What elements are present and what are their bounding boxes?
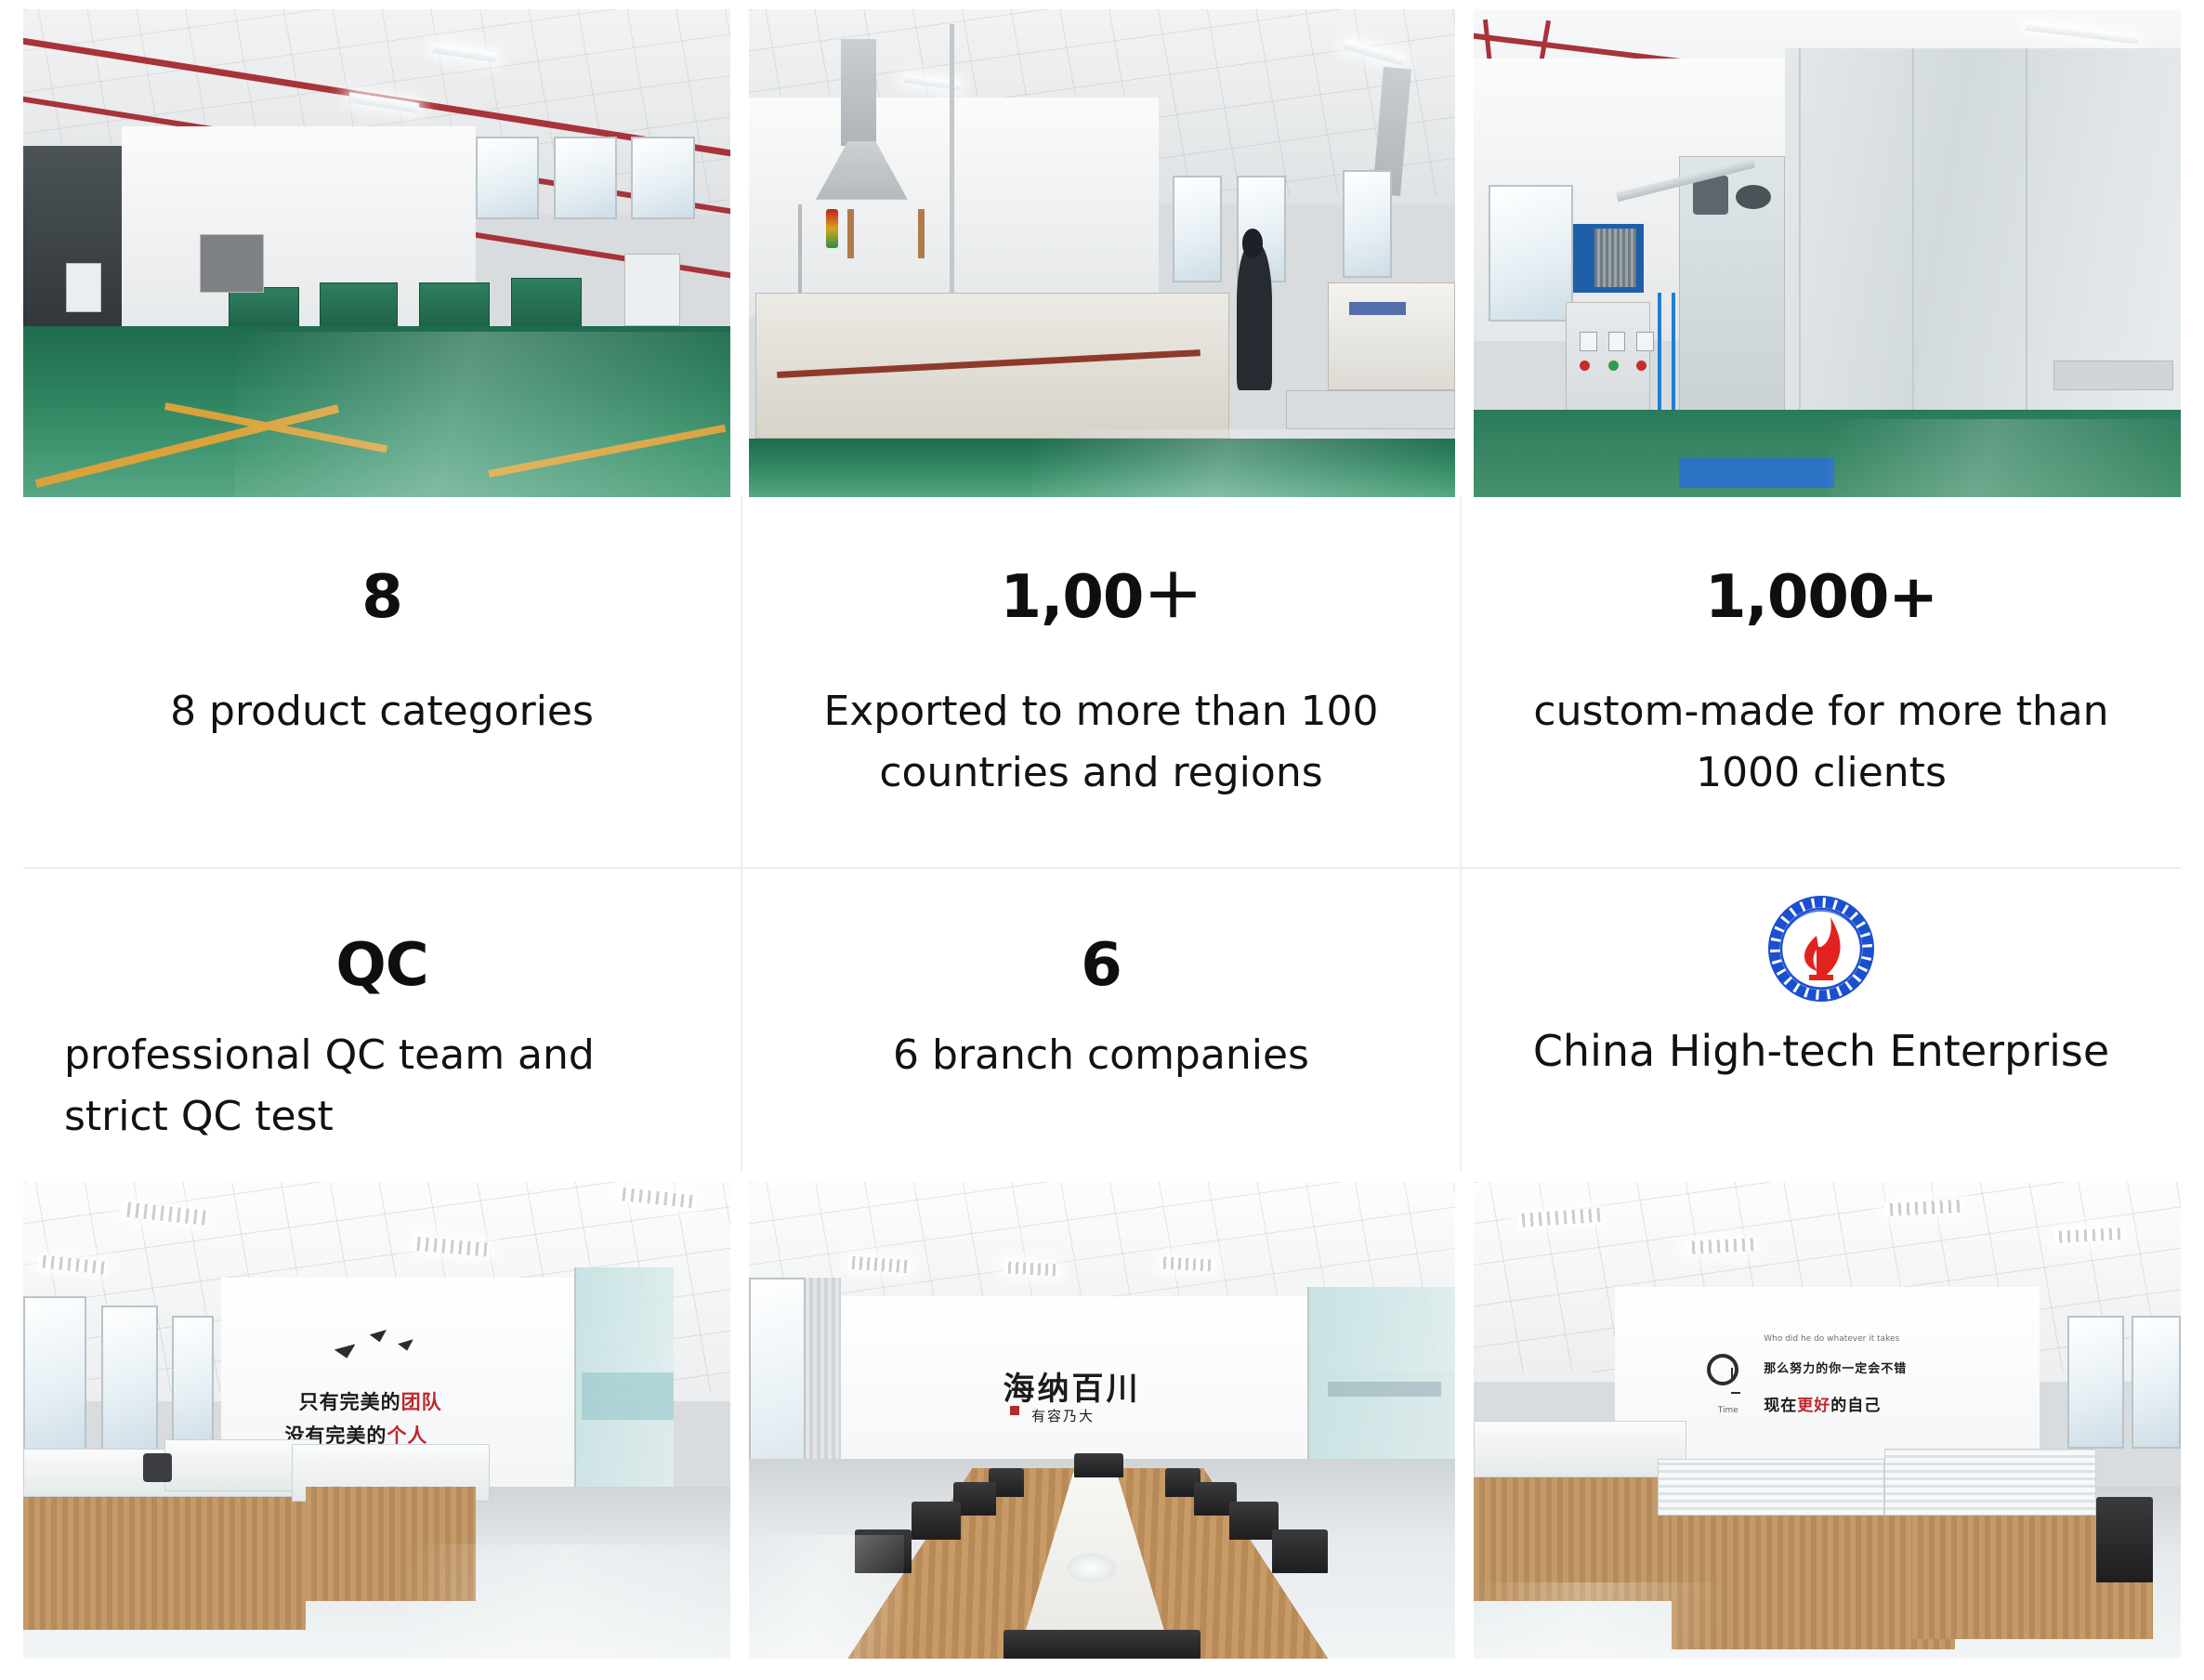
conference-chair bbox=[912, 1502, 961, 1540]
clock-icon bbox=[1707, 1354, 1738, 1385]
workbench bbox=[320, 282, 398, 332]
window bbox=[172, 1316, 215, 1450]
slogan-text: 现在 bbox=[1764, 1397, 1797, 1415]
fan-grille bbox=[1594, 229, 1637, 287]
slogan-accent: 个人 bbox=[387, 1424, 427, 1447]
glass-bowl bbox=[1067, 1554, 1116, 1582]
worker-head bbox=[1242, 229, 1264, 258]
production-line-photo[interactable] bbox=[749, 9, 1456, 497]
conference-chair bbox=[1074, 1453, 1123, 1477]
worker-figure bbox=[1237, 243, 1272, 390]
pulley-icon bbox=[1736, 185, 1771, 209]
steel-table bbox=[1286, 390, 1456, 429]
tall-cabinet bbox=[624, 254, 681, 327]
stat-description: custom-made for more than 1000 clients bbox=[1502, 681, 2140, 804]
machine-head bbox=[200, 234, 263, 293]
stat-cell-branch-companies: 6 6 branch companies bbox=[742, 869, 1462, 1171]
calligraphy-sub: 有容乃大 bbox=[1031, 1406, 1095, 1425]
panel-seam bbox=[1799, 48, 1801, 439]
window bbox=[476, 137, 539, 219]
window bbox=[554, 137, 617, 219]
statistics-grid: 8 8 product categories 1,00＋ Exported to… bbox=[23, 497, 2181, 1171]
stat-description: 8 product categories bbox=[64, 681, 700, 742]
desk-panel bbox=[23, 1497, 306, 1631]
factory-workshop-photo[interactable] bbox=[23, 9, 730, 497]
epoxy-floor bbox=[23, 326, 730, 497]
wall-slogan-line-1: 只有完美的团队 bbox=[299, 1387, 442, 1415]
bottom-photo-row: 只有完美的团队 没有完美的个人 bbox=[23, 1182, 2181, 1659]
stat-value: 1,000+ bbox=[1502, 568, 2140, 627]
epoxy-floor bbox=[749, 439, 1456, 497]
machine-base bbox=[1679, 458, 1834, 488]
equipment-room-photo[interactable] bbox=[1474, 9, 2181, 497]
meeting-room-photo[interactable]: 海纳百川 有容乃大 bbox=[749, 1182, 1456, 1659]
window bbox=[1173, 176, 1222, 283]
conference-chair bbox=[855, 1529, 912, 1572]
frosted-band bbox=[1328, 1382, 1441, 1396]
window bbox=[1489, 185, 1573, 322]
gauge bbox=[1608, 332, 1625, 351]
stat-value: 1,00＋ bbox=[783, 568, 1419, 627]
panel-seam bbox=[2026, 48, 2027, 439]
workstation-office-photo[interactable]: Who did he do whatever it takes 那么努力的你一定… bbox=[1474, 1182, 2181, 1659]
stat-cell-china-high-tech-enterprise: China High-tech Enterprise bbox=[1462, 869, 2181, 1171]
office-partition bbox=[1474, 1421, 1686, 1478]
office-partition bbox=[1658, 1459, 1883, 1516]
desk-panel bbox=[1474, 1477, 1686, 1601]
conference-chair bbox=[1004, 1630, 1201, 1659]
desk-panel bbox=[306, 1487, 476, 1601]
wall-slogan-line-1: 那么努力的你一定会不错 bbox=[1764, 1358, 1907, 1376]
open-office-photo[interactable]: 只有完美的团队 没有完美的个人 bbox=[23, 1182, 730, 1659]
badge-label: China High-tech Enterprise bbox=[1533, 1026, 2109, 1076]
end-machine bbox=[1328, 282, 1455, 390]
wall-slogan-top: Who did he do whatever it takes bbox=[1764, 1334, 1899, 1344]
window bbox=[2067, 1316, 2124, 1450]
china-high-tech-seal-icon bbox=[1765, 893, 1877, 1009]
window bbox=[2132, 1316, 2181, 1450]
stat-description: 6 branch companies bbox=[783, 1025, 1419, 1086]
workbench bbox=[419, 282, 490, 332]
window bbox=[101, 1306, 158, 1453]
clock-hand bbox=[1731, 1368, 1733, 1378]
office-chair bbox=[2096, 1497, 2153, 1582]
stat-description: professional QC team and strict QC test bbox=[64, 1025, 700, 1148]
stat-cell-custom-made-clients: 1,000+ custom-made for more than 1000 cl… bbox=[1462, 497, 2181, 869]
signal-tower-icon bbox=[826, 209, 838, 248]
window bbox=[23, 1296, 86, 1458]
gauge bbox=[1580, 332, 1596, 351]
stat-value: QC bbox=[64, 936, 700, 995]
panel-seam bbox=[1912, 48, 1914, 439]
exhaust-duct bbox=[841, 39, 876, 147]
top-photo-row bbox=[23, 9, 2181, 497]
dark-wall bbox=[23, 146, 137, 341]
brand-mark bbox=[1349, 302, 1406, 315]
window bbox=[631, 137, 694, 219]
workbench bbox=[229, 287, 299, 331]
equipment-cabinet bbox=[66, 263, 101, 312]
stat-description: Exported to more than 100 countries and … bbox=[783, 681, 1419, 804]
indicator-light bbox=[1608, 361, 1619, 371]
calligraphy-main: 海纳百川 bbox=[1004, 1363, 1141, 1409]
handle bbox=[918, 209, 925, 258]
stat-cell-exported-countries: 1,00＋ Exported to more than 100 countrie… bbox=[742, 497, 1462, 869]
stat-cell-qc-team: QC professional QC team and strict QC te… bbox=[23, 869, 742, 1171]
seal-stamp-icon bbox=[1010, 1406, 1019, 1415]
wall-slogan-time: Time bbox=[1718, 1406, 1738, 1415]
wall-slogan-line-2: 现在更好的自己 bbox=[1764, 1392, 1881, 1415]
office-chair bbox=[143, 1453, 171, 1482]
workbench bbox=[511, 278, 582, 332]
slogan-text: 只有完美的 bbox=[299, 1391, 401, 1413]
clock-hand bbox=[1731, 1392, 1740, 1394]
stat-value: 8 bbox=[64, 568, 700, 627]
frosted-band bbox=[582, 1372, 674, 1420]
gauge bbox=[1636, 332, 1653, 351]
side-table bbox=[2053, 361, 2173, 390]
handle bbox=[847, 209, 854, 258]
slogan-text-end: 的自己 bbox=[1830, 1397, 1881, 1415]
stat-cell-product-categories: 8 8 product categories bbox=[23, 497, 742, 869]
company-profile-panel: 8 8 product categories 1,00＋ Exported to… bbox=[0, 0, 2204, 1680]
stat-value: 6 bbox=[783, 936, 1419, 995]
slogan-accent: 更好 bbox=[1797, 1397, 1830, 1415]
slogan-accent: 团队 bbox=[401, 1391, 442, 1413]
conference-chair bbox=[1272, 1529, 1329, 1572]
window bbox=[1343, 170, 1392, 278]
office-partition bbox=[1884, 1449, 2096, 1516]
